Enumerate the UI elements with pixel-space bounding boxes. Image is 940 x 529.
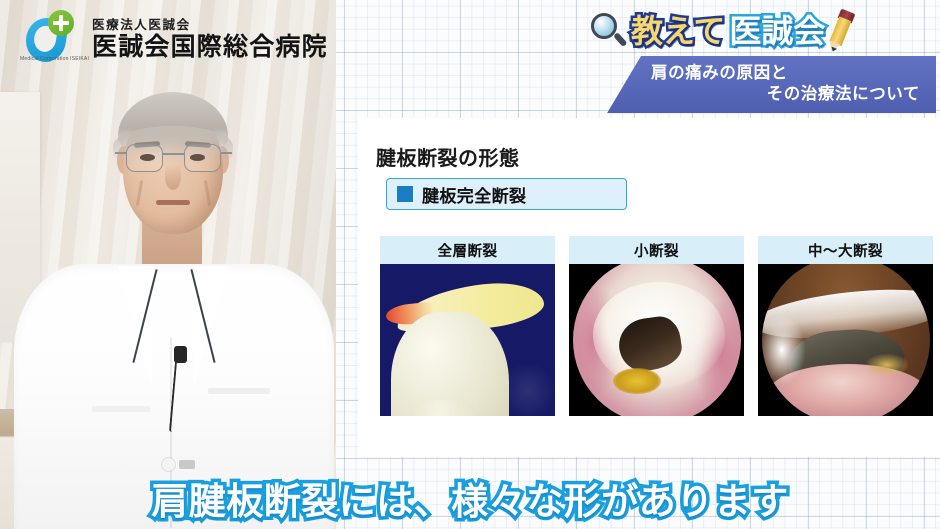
fatty-tissue-yellow xyxy=(613,368,661,394)
hospital-name-block: 医療法人医誠会 医誠会国際総合病院 xyxy=(92,19,328,69)
figure-card: 小断裂 xyxy=(569,236,744,416)
hospital-name: 医誠会国際総合病院 xyxy=(92,33,328,62)
show-title-part1: 教えて xyxy=(631,15,725,47)
arthroscopic-photo-small-tear xyxy=(569,264,744,416)
show-title-row: 教えて 医誠会 xyxy=(589,4,936,58)
logo-tagline: Medical Corporation ISEIKAI xyxy=(20,56,112,62)
lens-right xyxy=(184,144,221,172)
glasses-temple-right xyxy=(220,152,232,154)
tendon-edge-highlight xyxy=(762,314,806,386)
lens-left xyxy=(126,144,163,172)
humeral-head-bone xyxy=(391,312,509,416)
coat-lapel-right xyxy=(194,266,228,386)
hospital-logo-block: Medical Corporation ISEIKAI 医療法人医誠会 医誠会国… xyxy=(20,6,328,68)
fatty-tissue-yellow xyxy=(866,354,908,376)
coat-button xyxy=(162,458,175,471)
episode-subtitle-line2: その治療法について xyxy=(651,84,924,105)
corporation-name: 医療法人医誠会 xyxy=(92,19,328,33)
blue-square-bullet-icon xyxy=(397,186,413,202)
mouth xyxy=(156,200,190,205)
figure-card-list: 全層断裂 小断裂 xyxy=(380,236,933,416)
coat-pocket-right xyxy=(208,388,270,394)
glasses-bridge xyxy=(163,153,184,155)
figure-caption: 中〜大断裂 xyxy=(758,236,933,264)
figure-card: 全層断裂 xyxy=(380,236,555,416)
nose xyxy=(165,164,181,190)
green-cross-icon xyxy=(48,10,74,36)
coat-lapel-left xyxy=(118,266,152,386)
screenshot-stage: Medical Corporation ISEIKAI 医療法人医誠会 医誠会国… xyxy=(0,0,940,529)
water-drop-cross-logo-icon: Medical Corporation ISEIKAI xyxy=(20,6,84,68)
show-title-block: 教えて 医誠会 肩の痛みの原因と その治療法について xyxy=(589,4,936,113)
episode-subtitle-banner: 肩の痛みの原因と その治療法について xyxy=(607,56,936,113)
slide-panel: 腱板断裂の形態 腱板完全断裂 全層断裂 小断裂 xyxy=(358,118,940,457)
pencil-icon xyxy=(821,6,862,57)
coat-badge xyxy=(179,460,195,469)
figure-card: 中〜大断裂 xyxy=(758,236,933,416)
figure-caption: 全層断裂 xyxy=(380,236,555,264)
video-speaker-pane xyxy=(0,0,336,529)
anatomical-illustration-full-thickness-tear xyxy=(380,264,555,416)
scope-field-of-view xyxy=(573,264,741,416)
figure-caption: 小断裂 xyxy=(569,236,744,264)
coat-pocket-left xyxy=(92,406,150,412)
scope-field-of-view xyxy=(762,264,930,416)
doctor-figure xyxy=(22,88,322,529)
video-subtitle-caption: 肩腱板断裂には、様々な形があります xyxy=(0,483,940,520)
magnifying-glass-icon xyxy=(589,11,629,51)
episode-subtitle-line1: 肩の痛みの原因と xyxy=(651,63,924,84)
slide-subheading-box: 腱板完全断裂 xyxy=(386,178,627,210)
magnifier-handle xyxy=(613,32,627,47)
slide-title: 腱板断裂の形態 xyxy=(376,142,520,171)
show-title-part2: 医誠会 xyxy=(729,15,825,47)
glasses-temple-left xyxy=(115,152,127,154)
slide-subheading-label: 腱板完全断裂 xyxy=(422,182,526,207)
arthroscopic-photo-medium-large-tear xyxy=(758,264,933,416)
